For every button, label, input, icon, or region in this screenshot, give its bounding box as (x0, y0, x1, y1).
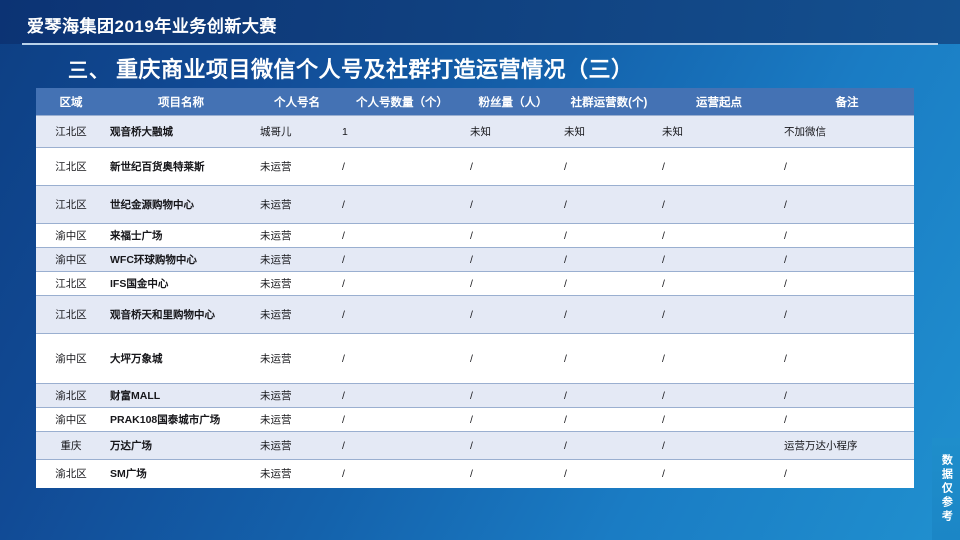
column-header-fans: 粉丝量（人） (466, 88, 560, 116)
table-row[interactable]: 渝中区大坪万象城未运营///// (36, 334, 914, 384)
cell-account-count: 1 (338, 116, 466, 148)
cell-fans: / (466, 408, 560, 432)
section-number: 三、 (68, 54, 110, 83)
cell-note: 运营万达小程序 (780, 432, 914, 460)
cell-fans: / (466, 272, 560, 296)
cell-account-name: 城哥儿 (256, 116, 338, 148)
column-header-start: 运营起点 (658, 88, 780, 116)
table-row[interactable]: 渝中区来福士广场未运营///// (36, 224, 914, 248)
column-header-project: 项目名称 (106, 88, 256, 116)
cell-account-count: / (338, 408, 466, 432)
column-header-note: 备注 (780, 88, 914, 116)
table-row[interactable]: 江北区世纪金源购物中心未运营///// (36, 186, 914, 224)
cell-note: / (780, 384, 914, 408)
cell-start: / (658, 272, 780, 296)
cell-account-name: 未运营 (256, 224, 338, 248)
table-row[interactable]: 江北区新世纪百货奥特莱斯未运营///// (36, 148, 914, 186)
cell-note: / (780, 460, 914, 488)
cell-area: 江北区 (36, 272, 106, 296)
slide-canvas: 爱琴海集团2019年业务创新大赛 三、 重庆商业项目微信个人号及社群打造运营情况… (0, 0, 960, 540)
cell-area: 渝中区 (36, 248, 106, 272)
cell-note: / (780, 248, 914, 272)
cell-account-count: / (338, 460, 466, 488)
cell-note: / (780, 296, 914, 334)
section-title: 重庆商业项目微信个人号及社群打造运营情况（三） (116, 52, 634, 84)
cell-groups: / (560, 334, 658, 384)
table-header-row: 区域 项目名称 个人号名 个人号数量（个） 粉丝量（人） 社群运营数(个) 运营… (36, 88, 914, 116)
cell-groups: / (560, 432, 658, 460)
cell-area: 江北区 (36, 148, 106, 186)
cell-start: / (658, 186, 780, 224)
cell-account-name: 未运营 (256, 408, 338, 432)
cell-account-count: / (338, 148, 466, 186)
cell-account-name: 未运营 (256, 384, 338, 408)
cell-project: 来福士广场 (106, 224, 256, 248)
operations-table: 区域 项目名称 个人号名 个人号数量（个） 粉丝量（人） 社群运营数(个) 运营… (36, 88, 914, 488)
cell-groups: / (560, 384, 658, 408)
cell-fans: 未知 (466, 116, 560, 148)
cell-fans: / (466, 432, 560, 460)
cell-account-name: 未运营 (256, 334, 338, 384)
cell-groups: 未知 (560, 116, 658, 148)
cell-start: / (658, 148, 780, 186)
cell-account-count: / (338, 432, 466, 460)
cell-fans: / (466, 334, 560, 384)
cell-fans: / (466, 460, 560, 488)
cell-project: 万达广场 (106, 432, 256, 460)
cell-account-count: / (338, 248, 466, 272)
cell-start: / (658, 460, 780, 488)
cell-note: / (780, 272, 914, 296)
cell-start: / (658, 432, 780, 460)
cell-project: SM广场 (106, 460, 256, 488)
column-header-area: 区域 (36, 88, 106, 116)
cell-groups: / (560, 296, 658, 334)
cell-start: / (658, 408, 780, 432)
table-row[interactable]: 重庆万达广场未运营////运营万达小程序 (36, 432, 914, 460)
side-note-tab: 数据仅参考 (932, 438, 960, 540)
cell-account-name: 未运营 (256, 148, 338, 186)
table-row[interactable]: 渝中区PRAK108国泰城市广场未运营///// (36, 408, 914, 432)
cell-area: 渝北区 (36, 384, 106, 408)
cell-account-name: 未运营 (256, 186, 338, 224)
table-head: 区域 项目名称 个人号名 个人号数量（个） 粉丝量（人） 社群运营数(个) 运营… (36, 88, 914, 116)
cell-account-count: / (338, 296, 466, 334)
table-row[interactable]: 江北区观音桥天和里购物中心未运营///// (36, 296, 914, 334)
cell-note: / (780, 224, 914, 248)
cell-account-name: 未运营 (256, 296, 338, 334)
cell-start: / (658, 224, 780, 248)
cell-start: 未知 (658, 116, 780, 148)
cell-start: / (658, 248, 780, 272)
deck-title: 爱琴海集团2019年业务创新大赛 (27, 12, 277, 37)
cell-groups: / (560, 272, 658, 296)
cell-account-name: 未运营 (256, 460, 338, 488)
cell-note: / (780, 186, 914, 224)
cell-project: WFC环球购物中心 (106, 248, 256, 272)
cell-groups: / (560, 460, 658, 488)
title-divider-rule (22, 43, 938, 45)
column-header-account-name: 个人号名 (256, 88, 338, 116)
cell-note: 不加微信 (780, 116, 914, 148)
cell-note: / (780, 408, 914, 432)
column-header-account-count: 个人号数量（个） (338, 88, 466, 116)
cell-project: 大坪万象城 (106, 334, 256, 384)
cell-groups: / (560, 224, 658, 248)
cell-groups: / (560, 186, 658, 224)
section-heading: 三、 重庆商业项目微信个人号及社群打造运营情况（三） (68, 52, 634, 84)
cell-groups: / (560, 408, 658, 432)
table-row[interactable]: 渝中区WFC环球购物中心未运营///// (36, 248, 914, 272)
cell-account-count: / (338, 384, 466, 408)
column-header-groups: 社群运营数(个) (560, 88, 658, 116)
table-row[interactable]: 江北区观音桥大融城城哥儿1未知未知未知不加微信 (36, 116, 914, 148)
cell-fans: / (466, 186, 560, 224)
cell-start: / (658, 384, 780, 408)
cell-area: 江北区 (36, 116, 106, 148)
cell-account-name: 未运营 (256, 272, 338, 296)
table-body: 江北区观音桥大融城城哥儿1未知未知未知不加微信江北区新世纪百货奥特莱斯未运营//… (36, 116, 914, 488)
cell-area: 江北区 (36, 186, 106, 224)
cell-account-count: / (338, 272, 466, 296)
table-row[interactable]: 渝北区SM广场未运营///// (36, 460, 914, 488)
cell-account-name: 未运营 (256, 432, 338, 460)
cell-account-count: / (338, 334, 466, 384)
cell-project: IFS国金中心 (106, 272, 256, 296)
cell-area: 渝中区 (36, 408, 106, 432)
side-note-text: 数据仅参考 (940, 454, 953, 524)
cell-fans: / (466, 384, 560, 408)
cell-groups: / (560, 248, 658, 272)
cell-project: 观音桥大融城 (106, 116, 256, 148)
cell-area: 渝中区 (36, 334, 106, 384)
table-row[interactable]: 江北区IFS国金中心未运营///// (36, 272, 914, 296)
cell-project: PRAK108国泰城市广场 (106, 408, 256, 432)
cell-note: / (780, 148, 914, 186)
table-row[interactable]: 渝北区财富MALL未运营///// (36, 384, 914, 408)
cell-area: 渝中区 (36, 224, 106, 248)
cell-account-count: / (338, 186, 466, 224)
cell-project: 财富MALL (106, 384, 256, 408)
cell-groups: / (560, 148, 658, 186)
cell-project: 观音桥天和里购物中心 (106, 296, 256, 334)
cell-fans: / (466, 148, 560, 186)
cell-fans: / (466, 224, 560, 248)
cell-project: 新世纪百货奥特莱斯 (106, 148, 256, 186)
cell-account-count: / (338, 224, 466, 248)
cell-area: 江北区 (36, 296, 106, 334)
cell-fans: / (466, 248, 560, 272)
cell-area: 重庆 (36, 432, 106, 460)
cell-project: 世纪金源购物中心 (106, 186, 256, 224)
cell-area: 渝北区 (36, 460, 106, 488)
cell-start: / (658, 296, 780, 334)
data-table-container: 区域 项目名称 个人号名 个人号数量（个） 粉丝量（人） 社群运营数(个) 运营… (36, 88, 914, 488)
cell-fans: / (466, 296, 560, 334)
cell-note: / (780, 334, 914, 384)
cell-account-name: 未运营 (256, 248, 338, 272)
cell-start: / (658, 334, 780, 384)
